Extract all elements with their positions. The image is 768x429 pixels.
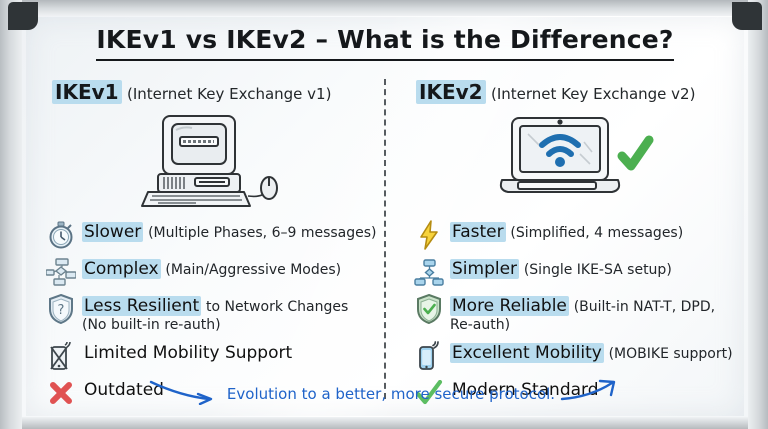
lightning-bolt-icon <box>412 220 446 250</box>
hierarchy-tree-icon <box>412 257 446 287</box>
feature-key: Slower <box>82 222 143 242</box>
list-item: Slower (Multiple Phases, 6–9 messages) <box>44 220 389 250</box>
phone-no-signal-icon <box>44 341 78 371</box>
feature-key: More Reliable <box>450 296 569 316</box>
page-title: IKEv1 vs IKEv2 – What is the Difference? <box>96 25 673 61</box>
list-item: Faster (Simplified, 4 messages) <box>412 220 748 250</box>
feature-detail: to Network Changes <box>206 299 348 315</box>
feature-key: Less Resilient <box>82 296 201 316</box>
feature-detail: (Single IKE-SA setup) <box>524 262 672 278</box>
stopwatch-icon <box>44 220 78 250</box>
footer-caption: Evolution to a better, more secure proto… <box>227 385 555 403</box>
right-heading-sub: (Internet Key Exchange v2) <box>491 85 695 103</box>
list-item: More Reliable (Built-in NAT-T, DPD, Re-a… <box>412 294 748 334</box>
feature-key: Simpler <box>450 259 519 279</box>
feature-key: Complex <box>82 259 161 279</box>
left-column-heading: IKEv1 (Internet Key Exchange v1) <box>52 80 331 104</box>
right-column-heading: IKEv2 (Internet Key Exchange v2) <box>416 80 695 104</box>
board-corner-top-left <box>8 2 38 30</box>
shield-check-icon <box>412 294 446 324</box>
right-heading-key: IKEv2 <box>416 80 486 104</box>
feature-key: Limited Mobility Support <box>82 343 294 363</box>
board-corner-top-right <box>732 2 762 30</box>
list-item: Excellent Mobility (MOBIKE support) <box>412 341 748 371</box>
list-item: Simpler (Single IKE-SA setup) <box>412 257 748 287</box>
feature-detail: (Multiple Phases, 6–9 messages) <box>148 225 376 241</box>
feature-detail: (Main/Aggressive Modes) <box>165 262 341 278</box>
list-item: Limited Mobility Support <box>44 341 389 371</box>
laptop-wifi-illustration <box>496 112 661 216</box>
list-item: ? Less Resilient to Network Changes (No … <box>44 294 389 334</box>
desktop-crt-computer-illustration <box>136 112 286 216</box>
shield-question-icon: ? <box>44 294 78 324</box>
feature-key: Faster <box>450 222 506 242</box>
arrow-right-curved-icon <box>148 379 222 409</box>
feature-note: (No built-in re-auth) <box>82 317 221 333</box>
feature-note: Re-auth) <box>450 317 510 333</box>
feature-detail: (Simplified, 4 messages) <box>510 225 683 241</box>
list-item: Complex (Main/Aggressive Modes) <box>44 257 389 287</box>
flowchart-icon <box>44 257 78 287</box>
feature-detail: (MOBIKE support) <box>609 346 733 362</box>
title-block: IKEv1 vs IKEv2 – What is the Difference? <box>26 25 744 61</box>
board-frame-left <box>0 0 22 429</box>
feature-detail: (Built-in NAT-T, DPD, <box>574 299 715 315</box>
feature-key: Excellent Mobility <box>450 343 604 363</box>
board-frame-bottom <box>0 417 768 429</box>
left-heading-sub: (Internet Key Exchange v1) <box>127 85 331 103</box>
arrow-up-right-curved-icon <box>560 379 622 409</box>
left-heading-key: IKEv1 <box>52 80 122 104</box>
svg-text:?: ? <box>58 303 65 318</box>
board-frame-right <box>748 0 768 429</box>
board-frame-top <box>0 0 768 16</box>
whiteboard: IKEv1 vs IKEv2 – What is the Difference?… <box>0 0 768 429</box>
footer-caption-block: Evolution to a better, more secure proto… <box>26 379 744 409</box>
phone-signal-icon <box>412 341 446 371</box>
